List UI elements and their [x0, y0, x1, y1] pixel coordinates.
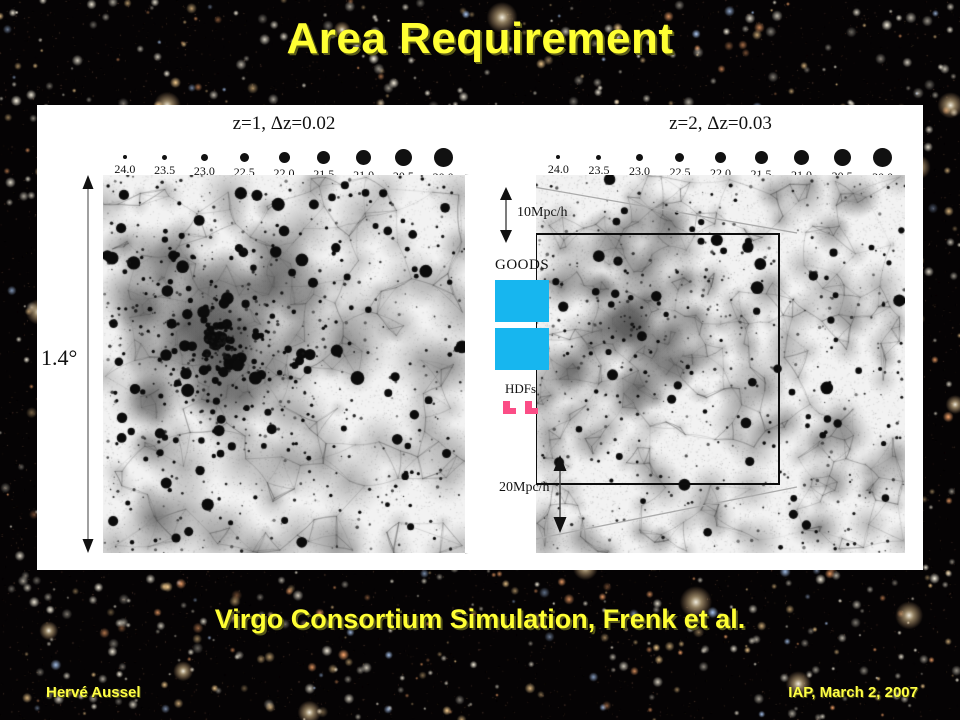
slide-caption: Virgo Consortium Simulation, Frenk et al…: [0, 604, 960, 635]
scale-arrow-10mpc: [499, 187, 513, 243]
goods-field-box-1: [495, 280, 549, 322]
hdfs-label: HDFs: [505, 381, 536, 397]
figure-panel: z=1, Δz=0.02 z=2, Δz=0.03 24.023.523.022…: [37, 105, 923, 570]
hdf-field-mark-1: [503, 401, 516, 414]
page-title: Area Requirement: [0, 14, 960, 64]
footer-venue: IAP, March 2, 2007: [788, 684, 918, 701]
scale-label-10mpc: 10Mpc/h: [517, 205, 568, 221]
hdf-field-mark-2: [525, 401, 538, 414]
scale-label-20mpc: 20Mpc/h: [499, 480, 550, 496]
legend-column: 10Mpc/h GOODS HDFs 20Mpc/h: [465, 175, 536, 553]
scale-arrow-20mpc: [553, 455, 567, 533]
goods-label: GOODS: [495, 257, 549, 274]
goods-field-box-2: [495, 328, 549, 370]
footer-author: Hervé Aussel: [46, 684, 141, 701]
